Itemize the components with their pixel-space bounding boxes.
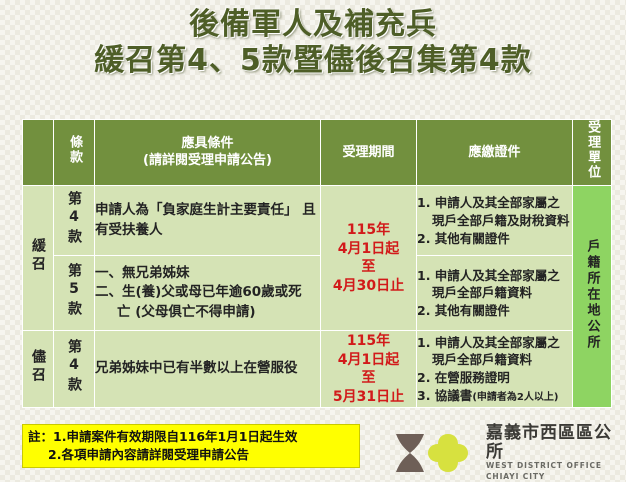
document-item: 3. 協議書(申請者為2人以上) — [417, 387, 572, 405]
period-line: 5月31日止 — [321, 388, 416, 406]
category-label: 儘召 — [28, 349, 48, 385]
clover-cross-icon — [428, 434, 468, 472]
document-item-text: 3. 協議書 — [417, 388, 472, 403]
condition-line: 二、生(養)父或母已年逾60歲或死 — [95, 283, 320, 303]
document-item-note: (申請者為2人以上) — [472, 392, 558, 403]
header-category — [23, 120, 54, 186]
table-row: 第5款 一、無兄弟姊妹 二、生(養)父或母已年逾60歲或死 亡 (父母俱亡不得申… — [23, 256, 612, 331]
header-conditions: 應具條件 (請詳閱受理申請公告) — [95, 120, 321, 186]
period-line: 至 — [321, 258, 416, 276]
logo-name-cn: 嘉義市西區區公所 — [486, 424, 626, 461]
table-header-row: 條款 應具條件 (請詳閱受理申請公告) 受理期間 應繳證件 受理單位 — [23, 120, 612, 186]
document-item: 2. 在營服務證明 — [417, 369, 572, 387]
cell-period-group1: 115年 4月1日起 至 4月30日止 — [321, 186, 417, 331]
note-line-1: 註：1.申請案件有效期限自116年1月1日起生效 — [28, 429, 297, 444]
table-body: 緩召 第4款 申請人為「負家庭生計主要責任」 且有受扶養人 115年 4月1日起… — [23, 186, 612, 408]
office-logo: 嘉義市西區區公所 WEST DISTRICT OFFICE CHIAYI CIT… — [390, 424, 626, 482]
cell-conditions-row3: 兄弟姊妹中已有半數以上在營服役 — [95, 331, 321, 408]
logo-name-en-line2: CHIAYI CITY — [486, 472, 626, 482]
cell-documents-row1: 1. 申請人及其全部家屬之現戶全部戶籍及財稅資料 2. 其他有關證件 — [417, 186, 573, 256]
period-line: 115年 — [321, 221, 416, 239]
document-item: 1. 申請人及其全部家屬之現戶全部戶籍資料 — [417, 267, 572, 303]
title-line-1: 後備軍人及補充兵 — [0, 8, 626, 42]
header-clause: 條款 — [54, 120, 95, 186]
cell-conditions-row2: 一、無兄弟姊妹 二、生(養)父或母已年逾60歲或死 亡 (父母俱亡不得申請) — [95, 256, 321, 331]
header-conditions-line2: (請詳閱受理申請公告) — [95, 153, 320, 169]
logo-shapes-icon — [390, 432, 478, 474]
unit-label: 戶籍所在地公所 — [583, 239, 602, 351]
cell-clause-row1: 第4款 — [54, 186, 95, 256]
poster-root: 後備軍人及補充兵 緩召第4、5款暨儘後召集第4款 條款 應具條件 (請詳閱受理申… — [0, 0, 626, 470]
header-unit: 受理單位 — [573, 120, 612, 186]
document-item: 1. 申請人及其全部家屬之現戶全部戶籍及財稅資料 — [417, 194, 572, 230]
header-documents: 應繳證件 — [417, 120, 573, 186]
logo-text-group: 嘉義市西區區公所 WEST DISTRICT OFFICE CHIAYI CIT… — [486, 424, 626, 482]
header-conditions-line1: 應具條件 — [95, 136, 320, 152]
table-row: 緩召 第4款 申請人為「負家庭生計主要責任」 且有受扶養人 115年 4月1日起… — [23, 186, 612, 256]
period-line: 4月30日止 — [321, 277, 416, 295]
hourglass-icon — [396, 434, 424, 472]
condition-line: 申請人為「負家庭生計主要責任」 — [95, 202, 298, 218]
condition-line: 亡 (父母俱亡不得申請) — [95, 303, 320, 323]
document-item: 2. 其他有關證件 — [417, 230, 572, 248]
title-line-2: 緩召第4、5款暨儘後召集第4款 — [0, 44, 626, 78]
condition-line: 一、無兄弟姊妹 — [95, 264, 320, 284]
cell-documents-row2: 1. 申請人及其全部家屬之現戶全部戶籍資料 2. 其他有關證件 — [417, 256, 573, 331]
info-table-container: 條款 應具條件 (請詳閱受理申請公告) 受理期間 應繳證件 受理單位 — [22, 119, 605, 408]
note-line-2: 2.各項申請內容請詳閱受理申請公告 — [28, 446, 354, 464]
cell-category-jinzhao: 儘召 — [23, 331, 54, 408]
info-table: 條款 應具條件 (請詳閱受理申請公告) 受理期間 應繳證件 受理單位 — [22, 119, 612, 408]
header-period: 受理期間 — [321, 120, 417, 186]
table-header: 條款 應具條件 (請詳閱受理申請公告) 受理期間 應繳證件 受理單位 — [23, 120, 612, 186]
logo-mark — [390, 432, 478, 474]
condition-line: 兄弟姊妹中已有半數以上在營服役 — [95, 360, 298, 376]
header-clause-label: 條款 — [66, 135, 82, 165]
period-line: 115年 — [321, 332, 416, 350]
cell-category-huanzhao: 緩召 — [23, 186, 54, 331]
clause-label: 第5款 — [64, 263, 84, 319]
clause-label: 第4款 — [64, 191, 84, 247]
cell-conditions-row1: 申請人為「負家庭生計主要責任」 且有受扶養人 — [95, 186, 321, 256]
cell-unit: 戶籍所在地公所 — [573, 186, 612, 408]
cell-period-row3: 115年 4月1日起 至 5月31日止 — [321, 331, 417, 408]
period-line: 至 — [321, 369, 416, 387]
document-item: 1. 申請人及其全部家屬之現戶全部戶籍資料 — [417, 334, 572, 370]
category-label: 緩召 — [28, 238, 48, 274]
period-line: 4月1日起 — [321, 240, 416, 258]
table-row: 儘召 第4款 兄弟姊妹中已有半數以上在營服役 115年 4月1日起 至 5月31… — [23, 331, 612, 408]
document-item: 2. 其他有關證件 — [417, 302, 572, 320]
period-line: 4月1日起 — [321, 351, 416, 369]
clause-label: 第4款 — [64, 339, 84, 395]
cell-clause-row3: 第4款 — [54, 331, 95, 408]
cell-documents-row3: 1. 申請人及其全部家屬之現戶全部戶籍資料 2. 在營服務證明 3. 協議書(申… — [417, 331, 573, 408]
cell-clause-row2: 第5款 — [54, 256, 95, 331]
header-unit-label: 受理單位 — [584, 120, 600, 180]
footer-note: 註：1.申請案件有效期限自116年1月1日起生效 2.各項申請內容請詳閱受理申請… — [22, 424, 360, 468]
poster-title: 後備軍人及補充兵 緩召第4、5款暨儘後召集第4款 — [0, 8, 626, 77]
